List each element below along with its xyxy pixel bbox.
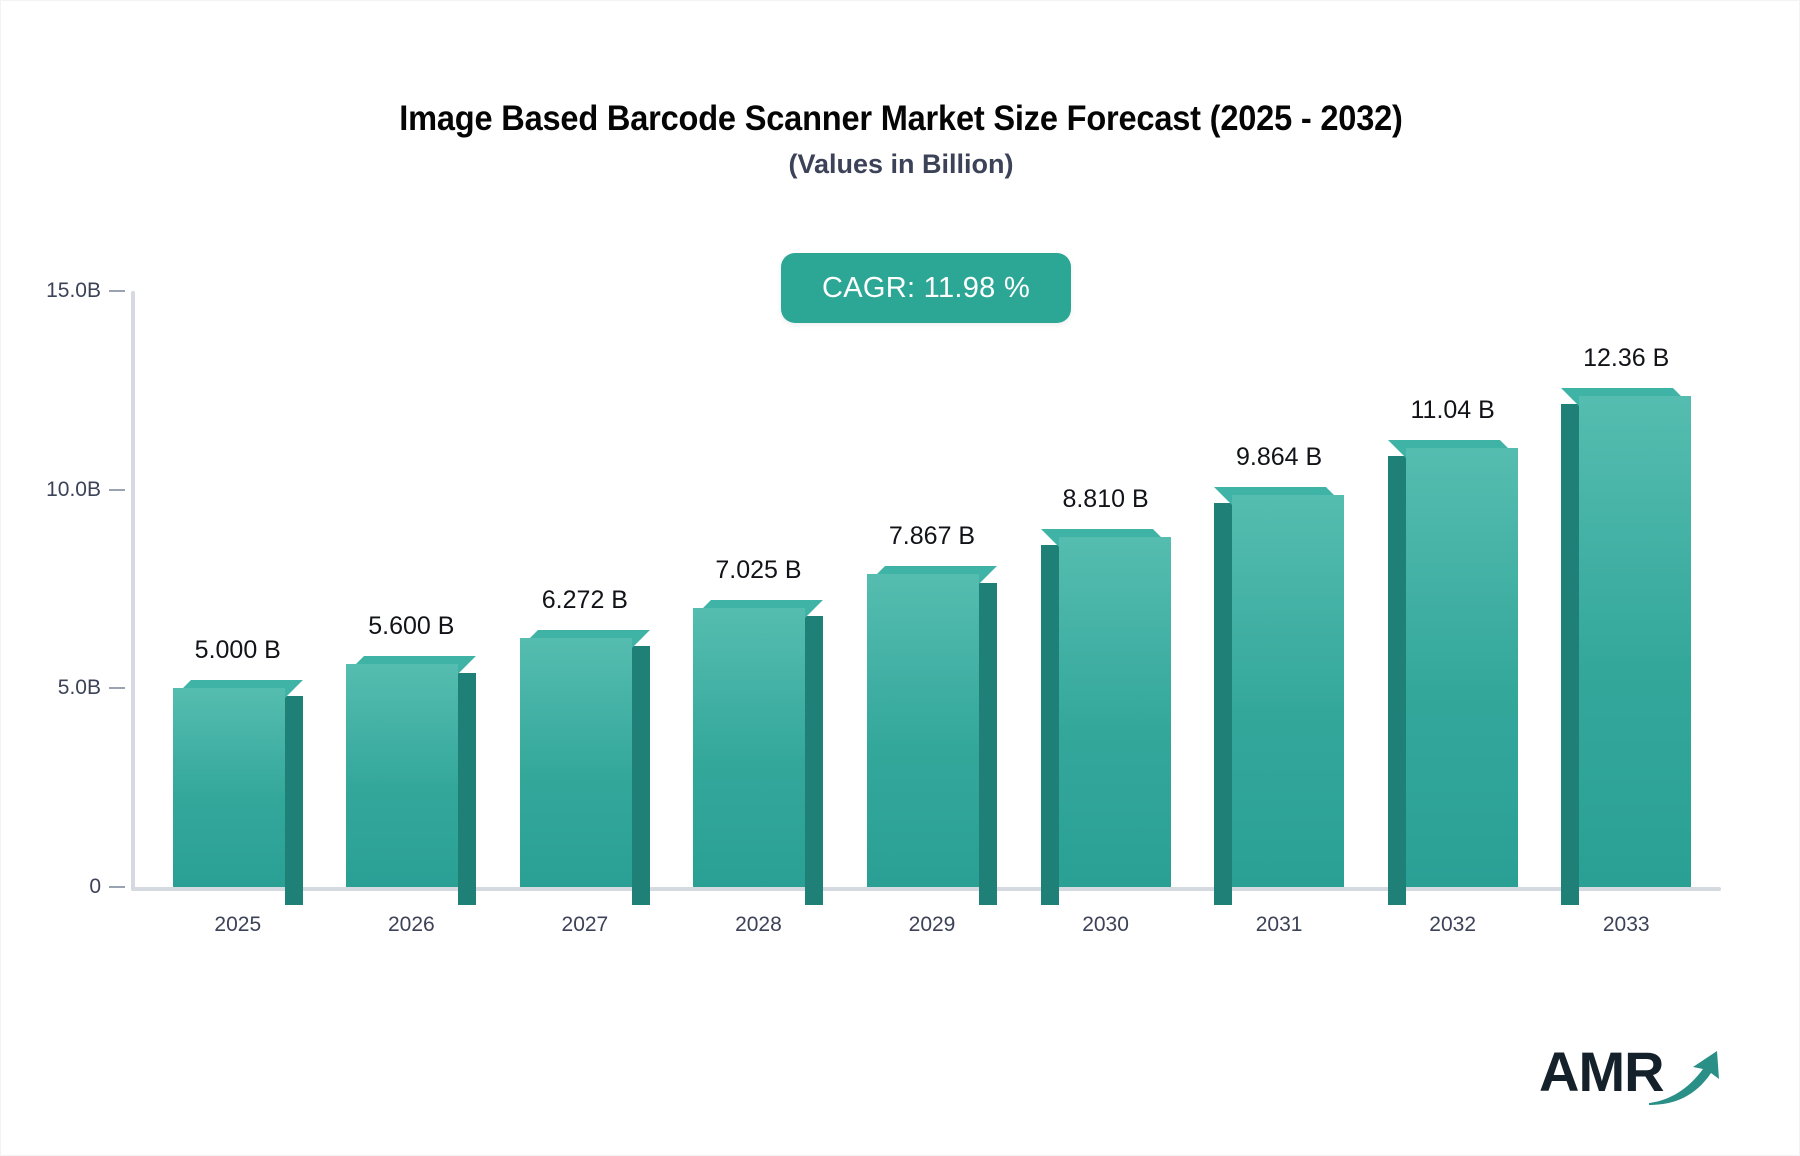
bar-value-label: 9.864 B (1236, 443, 1322, 472)
x-axis-label-2029: 2029 (909, 913, 956, 937)
bar-front-face (1232, 495, 1344, 887)
bar-value-label: 7.025 B (715, 556, 801, 585)
bar-value-label: 11.04 B (1410, 396, 1494, 425)
bar-top-face (1388, 440, 1518, 460)
amr-logo: AMR (1539, 1041, 1719, 1113)
y-axis-tick-label: 10.0B (9, 478, 101, 502)
bar-top-face (693, 600, 823, 620)
bar-top-face (173, 680, 303, 700)
bar-front-face (1579, 396, 1691, 887)
bar-top-face (520, 630, 650, 650)
x-axis-label-2028: 2028 (735, 913, 782, 937)
bar-front-face (867, 574, 979, 887)
y-axis-tick-mark (109, 687, 125, 689)
bar-value-label: 12.36 B (1583, 344, 1669, 373)
plot-area: 05.0B10.0B15.0B 5.000 B5.600 B6.272 B7.0… (1, 1, 1800, 1156)
bar-value-label: 5.000 B (195, 636, 281, 665)
bar-front-face (173, 688, 285, 887)
bar-side-face (1388, 456, 1406, 905)
bar-side-face (1214, 503, 1232, 905)
bar-value-label: 8.810 B (1062, 485, 1148, 514)
bar-front-face (1406, 448, 1518, 887)
bar-front-face (1059, 537, 1171, 887)
bar-value-label: 7.867 B (889, 522, 975, 551)
x-axis-line (131, 887, 1721, 891)
bar-front-face (693, 608, 805, 887)
bar-side-face (1041, 545, 1059, 905)
bar-2025[interactable]: 5.000 B (1, 1, 1800, 1156)
x-axis-label-2026: 2026 (388, 913, 435, 937)
bar-2033[interactable]: 12.36 B (1, 1, 1800, 1156)
chart-canvas: Image Based Barcode Scanner Market Size … (0, 0, 1800, 1156)
bar-front-face (346, 664, 458, 887)
bar-top-face (867, 566, 997, 586)
bar-side-face (285, 696, 303, 905)
bar-top-face (346, 656, 476, 676)
x-axis-label-2031: 2031 (1256, 913, 1303, 937)
bar-side-face (632, 646, 650, 905)
y-axis-line (131, 291, 135, 891)
bar-2028[interactable]: 7.025 B (1, 1, 1800, 1156)
x-axis-label-2030: 2030 (1082, 913, 1129, 937)
x-axis-label-2025: 2025 (214, 913, 261, 937)
bar-2031[interactable]: 9.864 B (1, 1, 1800, 1156)
y-axis-tick-mark (109, 290, 125, 292)
bar-side-face (1561, 404, 1579, 905)
bar-top-face (1561, 388, 1691, 408)
bar-2032[interactable]: 11.04 B (1, 1, 1800, 1156)
bar-side-face (805, 616, 823, 905)
y-axis-tick-label: 5.0B (9, 676, 101, 700)
amr-logo-text: AMR (1539, 1041, 1664, 1103)
x-axis-label-2033: 2033 (1603, 913, 1650, 937)
bar-front-face (520, 638, 632, 887)
trend-up-arrow-icon (1647, 1047, 1723, 1109)
bar-side-face (979, 583, 997, 905)
y-axis-tick-mark (109, 489, 125, 491)
bar-2030[interactable]: 8.810 B (1, 1, 1800, 1156)
x-axis-label-2032: 2032 (1429, 913, 1476, 937)
bar-2027[interactable]: 6.272 B (1, 1, 1800, 1156)
y-axis-tick-label: 15.0B (9, 279, 101, 303)
bar-top-face (1214, 487, 1344, 507)
bar-2026[interactable]: 5.600 B (1, 1, 1800, 1156)
x-axis-label-2027: 2027 (562, 913, 609, 937)
bar-value-label: 6.272 B (542, 586, 628, 615)
y-axis-tick-mark (109, 886, 125, 888)
bar-value-label: 5.600 B (368, 612, 454, 641)
bar-2029[interactable]: 7.867 B (1, 1, 1800, 1156)
bar-top-face (1041, 529, 1171, 549)
bar-side-face (458, 673, 476, 905)
y-axis-tick-label: 0 (9, 875, 101, 899)
